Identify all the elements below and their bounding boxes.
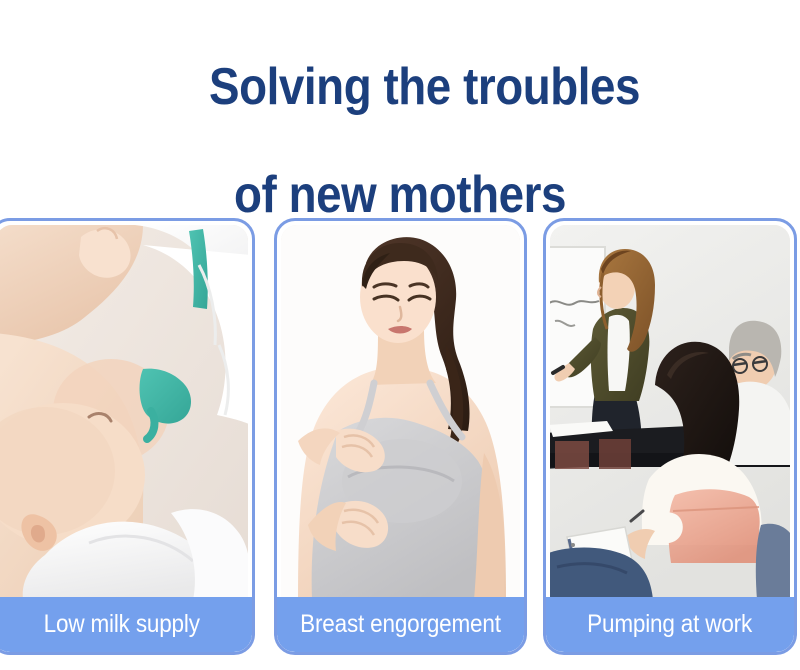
headline-line-2: of new mothers [48,168,752,222]
feature-card-breast-engorgement[interactable]: Breast engorgement [274,218,527,655]
card-caption-breast-engorgement: Breast engorgement [277,597,524,652]
card-image-engorgement [281,225,520,600]
feature-card-pumping-at-work[interactable]: Pumping at work [543,218,797,655]
card-caption-pumping-at-work: Pumping at work [546,597,794,652]
card-image-breastfeeding [0,225,248,600]
card-caption-low-milk-supply: Low milk supply [0,597,252,652]
promo-banner: Solving the troubles of new mothers [0,0,800,670]
headline-line-1: Solving the troubles [209,58,640,116]
card-image-office-meeting [550,225,790,600]
feature-card-low-milk-supply[interactable]: Low milk supply [0,218,255,655]
